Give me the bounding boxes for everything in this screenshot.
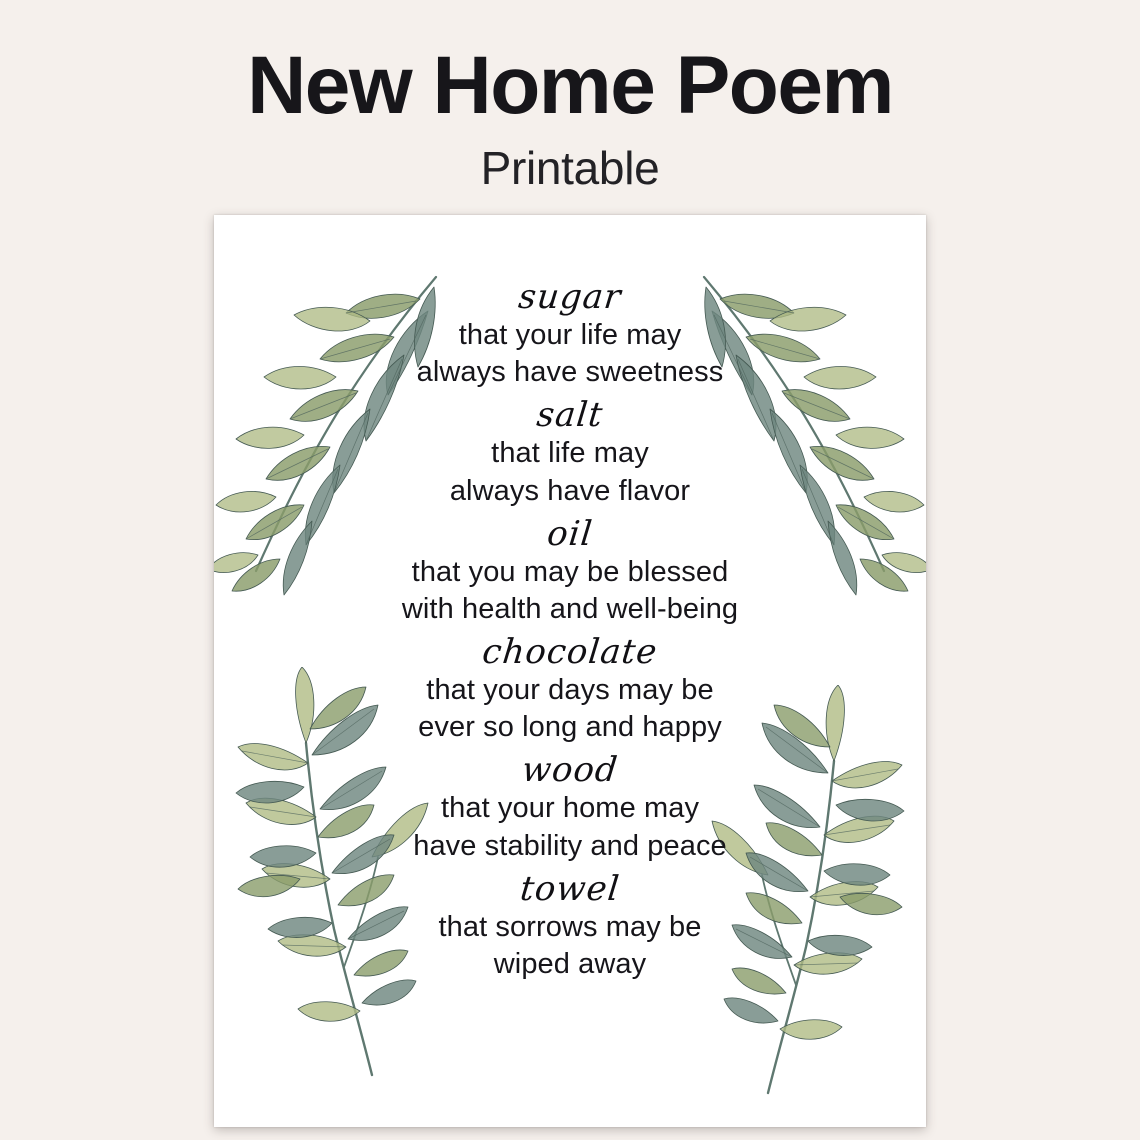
poem-stanza: sugar that your life may always have swe…	[214, 277, 926, 391]
poem-text-block: sugar that your life may always have swe…	[214, 277, 926, 987]
poem-stanza: towel that sorrows may be wiped away	[214, 869, 926, 983]
poem-keyword: towel	[214, 869, 926, 909]
poem-line: that your life may	[214, 317, 926, 354]
page-title: New Home Poem	[0, 44, 1140, 128]
poem-line: that life may	[214, 435, 926, 472]
poem-line: always have sweetness	[214, 354, 926, 391]
poem-keyword: wood	[214, 750, 926, 790]
poem-line: always have flavor	[214, 473, 926, 510]
poem-line: wiped away	[214, 946, 926, 983]
poem-line: ever so long and happy	[214, 709, 926, 746]
poem-line: with health and well-being	[214, 591, 926, 628]
poem-keyword: oil	[214, 514, 926, 554]
page-subtitle: Printable	[0, 144, 1140, 192]
poem-keyword: chocolate	[214, 632, 926, 672]
poem-line: have stability and peace	[214, 828, 926, 865]
poem-line: that sorrows may be	[214, 909, 926, 946]
poem-line: that you may be blessed	[214, 554, 926, 591]
poem-stanza: oil that you may be blessed with health …	[214, 514, 926, 628]
page-header: New Home Poem Printable	[0, 0, 1140, 192]
poem-line: that your days may be	[214, 672, 926, 709]
poem-stanza: chocolate that your days may be ever so …	[214, 632, 926, 746]
poem-line: that your home may	[214, 790, 926, 827]
printable-preview-card[interactable]: sugar that your life may always have swe…	[214, 215, 926, 1127]
poem-stanza: salt that life may always have flavor	[214, 395, 926, 509]
poem-stanza: wood that your home may have stability a…	[214, 750, 926, 864]
poem-keyword: sugar	[214, 277, 926, 317]
poem-keyword: salt	[214, 395, 926, 435]
